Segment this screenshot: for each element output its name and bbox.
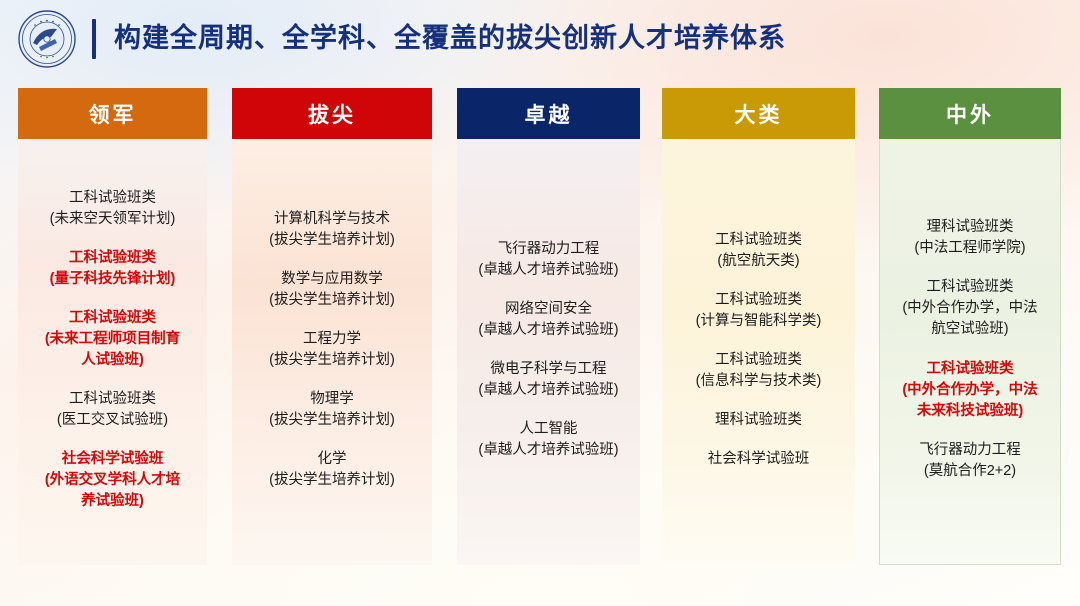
program-entry[interactable]: 理科试验班类 (中法工程师学院) — [914, 217, 1025, 259]
program-entry[interactable]: 化学 (拔尖学生培养计划) — [269, 449, 395, 491]
program-entry[interactable]: 社会科学试验班 — [708, 449, 810, 470]
program-column-dalei[interactable]: 大类 工科试验班类 (航空航天类) 工科试验班类 (计算与智能科学类) 工科试验… — [662, 88, 855, 565]
program-entry[interactable]: 工科试验班类 (计算与智能科学类) — [696, 290, 822, 332]
program-entry[interactable]: 飞行器动力工程 (卓越人才培养试验班) — [478, 239, 618, 281]
column-header-zhongwai[interactable]: 中外 — [879, 88, 1061, 139]
program-entry[interactable]: 微电子科学与工程 (卓越人才培养试验班) — [478, 359, 618, 401]
program-entry[interactable]: 工科试验班类 (信息科学与技术类) — [696, 350, 822, 392]
program-entry[interactable]: 数学与应用数学 (拔尖学生培养计划) — [269, 269, 395, 311]
program-entry[interactable]: 理科试验班类 — [715, 410, 802, 431]
column-body-bajian: 计算机科学与技术 (拔尖学生培养计划) 数学与应用数学 (拔尖学生培养计划) 工… — [232, 139, 432, 565]
slide-canvas: 构建全周期、全学科、全覆盖的拔尖创新人才培养体系 领军 工科试验班类 (未来空天… — [0, 0, 1080, 606]
program-column-bajian[interactable]: 拔尖 计算机科学与技术 (拔尖学生培养计划) 数学与应用数学 (拔尖学生培养计划… — [232, 88, 432, 565]
program-column-lingjun[interactable]: 领军 工科试验班类 (未来空天领军计划) 工科试验班类 (量子科技先锋计划) 工… — [18, 88, 207, 565]
page-title: 构建全周期、全学科、全覆盖的拔尖创新人才培养体系 — [114, 24, 786, 54]
program-entry[interactable]: 网络空间安全 (卓越人才培养试验班) — [478, 299, 618, 341]
column-header-zhuoyue[interactable]: 卓越 — [457, 88, 640, 139]
program-entry[interactable]: 计算机科学与技术 (拔尖学生培养计划) — [269, 209, 395, 251]
program-entry[interactable]: 工科试验班类 (量子科技先锋计划) — [50, 248, 176, 290]
column-body-dalei: 工科试验班类 (航空航天类) 工科试验班类 (计算与智能科学类) 工科试验班类 … — [662, 139, 855, 565]
column-header-dalei[interactable]: 大类 — [662, 88, 855, 139]
column-body-zhuoyue: 飞行器动力工程 (卓越人才培养试验班) 网络空间安全 (卓越人才培养试验班) 微… — [457, 139, 640, 565]
program-entry[interactable]: 物理学 (拔尖学生培养计划) — [269, 389, 395, 431]
program-column-zhongwai[interactable]: 中外 理科试验班类 (中法工程师学院) 工科试验班类 (中外合作办学，中法 航空… — [879, 88, 1061, 565]
program-entry[interactable]: 人工智能 (卓越人才培养试验班) — [478, 419, 618, 461]
program-entry[interactable]: 工科试验班类 (未来空天领军计划) — [50, 188, 176, 230]
program-entry[interactable]: 工程力学 (拔尖学生培养计划) — [269, 329, 395, 371]
program-entry[interactable]: 飞行器动力工程 (莫航合作2+2) — [919, 440, 1021, 482]
program-entry[interactable]: 工科试验班类 (医工交叉试验班) — [57, 389, 168, 431]
program-entry[interactable]: 工科试验班类 (未来工程师项目制育 人试验班) — [45, 308, 180, 371]
program-entry[interactable]: 社会科学试验班 (外语交叉学科人才培 养试验班) — [45, 449, 180, 512]
column-header-bajian[interactable]: 拔尖 — [232, 88, 432, 139]
program-entry[interactable]: 工科试验班类 (中外合作办学，中法 航空试验班) — [902, 277, 1037, 340]
university-seal-icon — [16, 8, 78, 70]
column-body-lingjun: 工科试验班类 (未来空天领军计划) 工科试验班类 (量子科技先锋计划) 工科试验… — [18, 139, 207, 565]
column-header-lingjun[interactable]: 领军 — [18, 88, 207, 139]
slide-header: 构建全周期、全学科、全覆盖的拔尖创新人才培养体系 — [0, 0, 1080, 78]
column-body-zhongwai: 理科试验班类 (中法工程师学院) 工科试验班类 (中外合作办学，中法 航空试验班… — [879, 139, 1061, 565]
program-entry[interactable]: 工科试验班类 (中外合作办学，中法 未来科技试验班) — [902, 359, 1037, 422]
program-columns: 领军 工科试验班类 (未来空天领军计划) 工科试验班类 (量子科技先锋计划) 工… — [0, 88, 1080, 568]
program-entry[interactable]: 工科试验班类 (航空航天类) — [715, 230, 802, 272]
title-divider — [92, 19, 96, 59]
program-column-zhuoyue[interactable]: 卓越 飞行器动力工程 (卓越人才培养试验班) 网络空间安全 (卓越人才培养试验班… — [457, 88, 640, 565]
